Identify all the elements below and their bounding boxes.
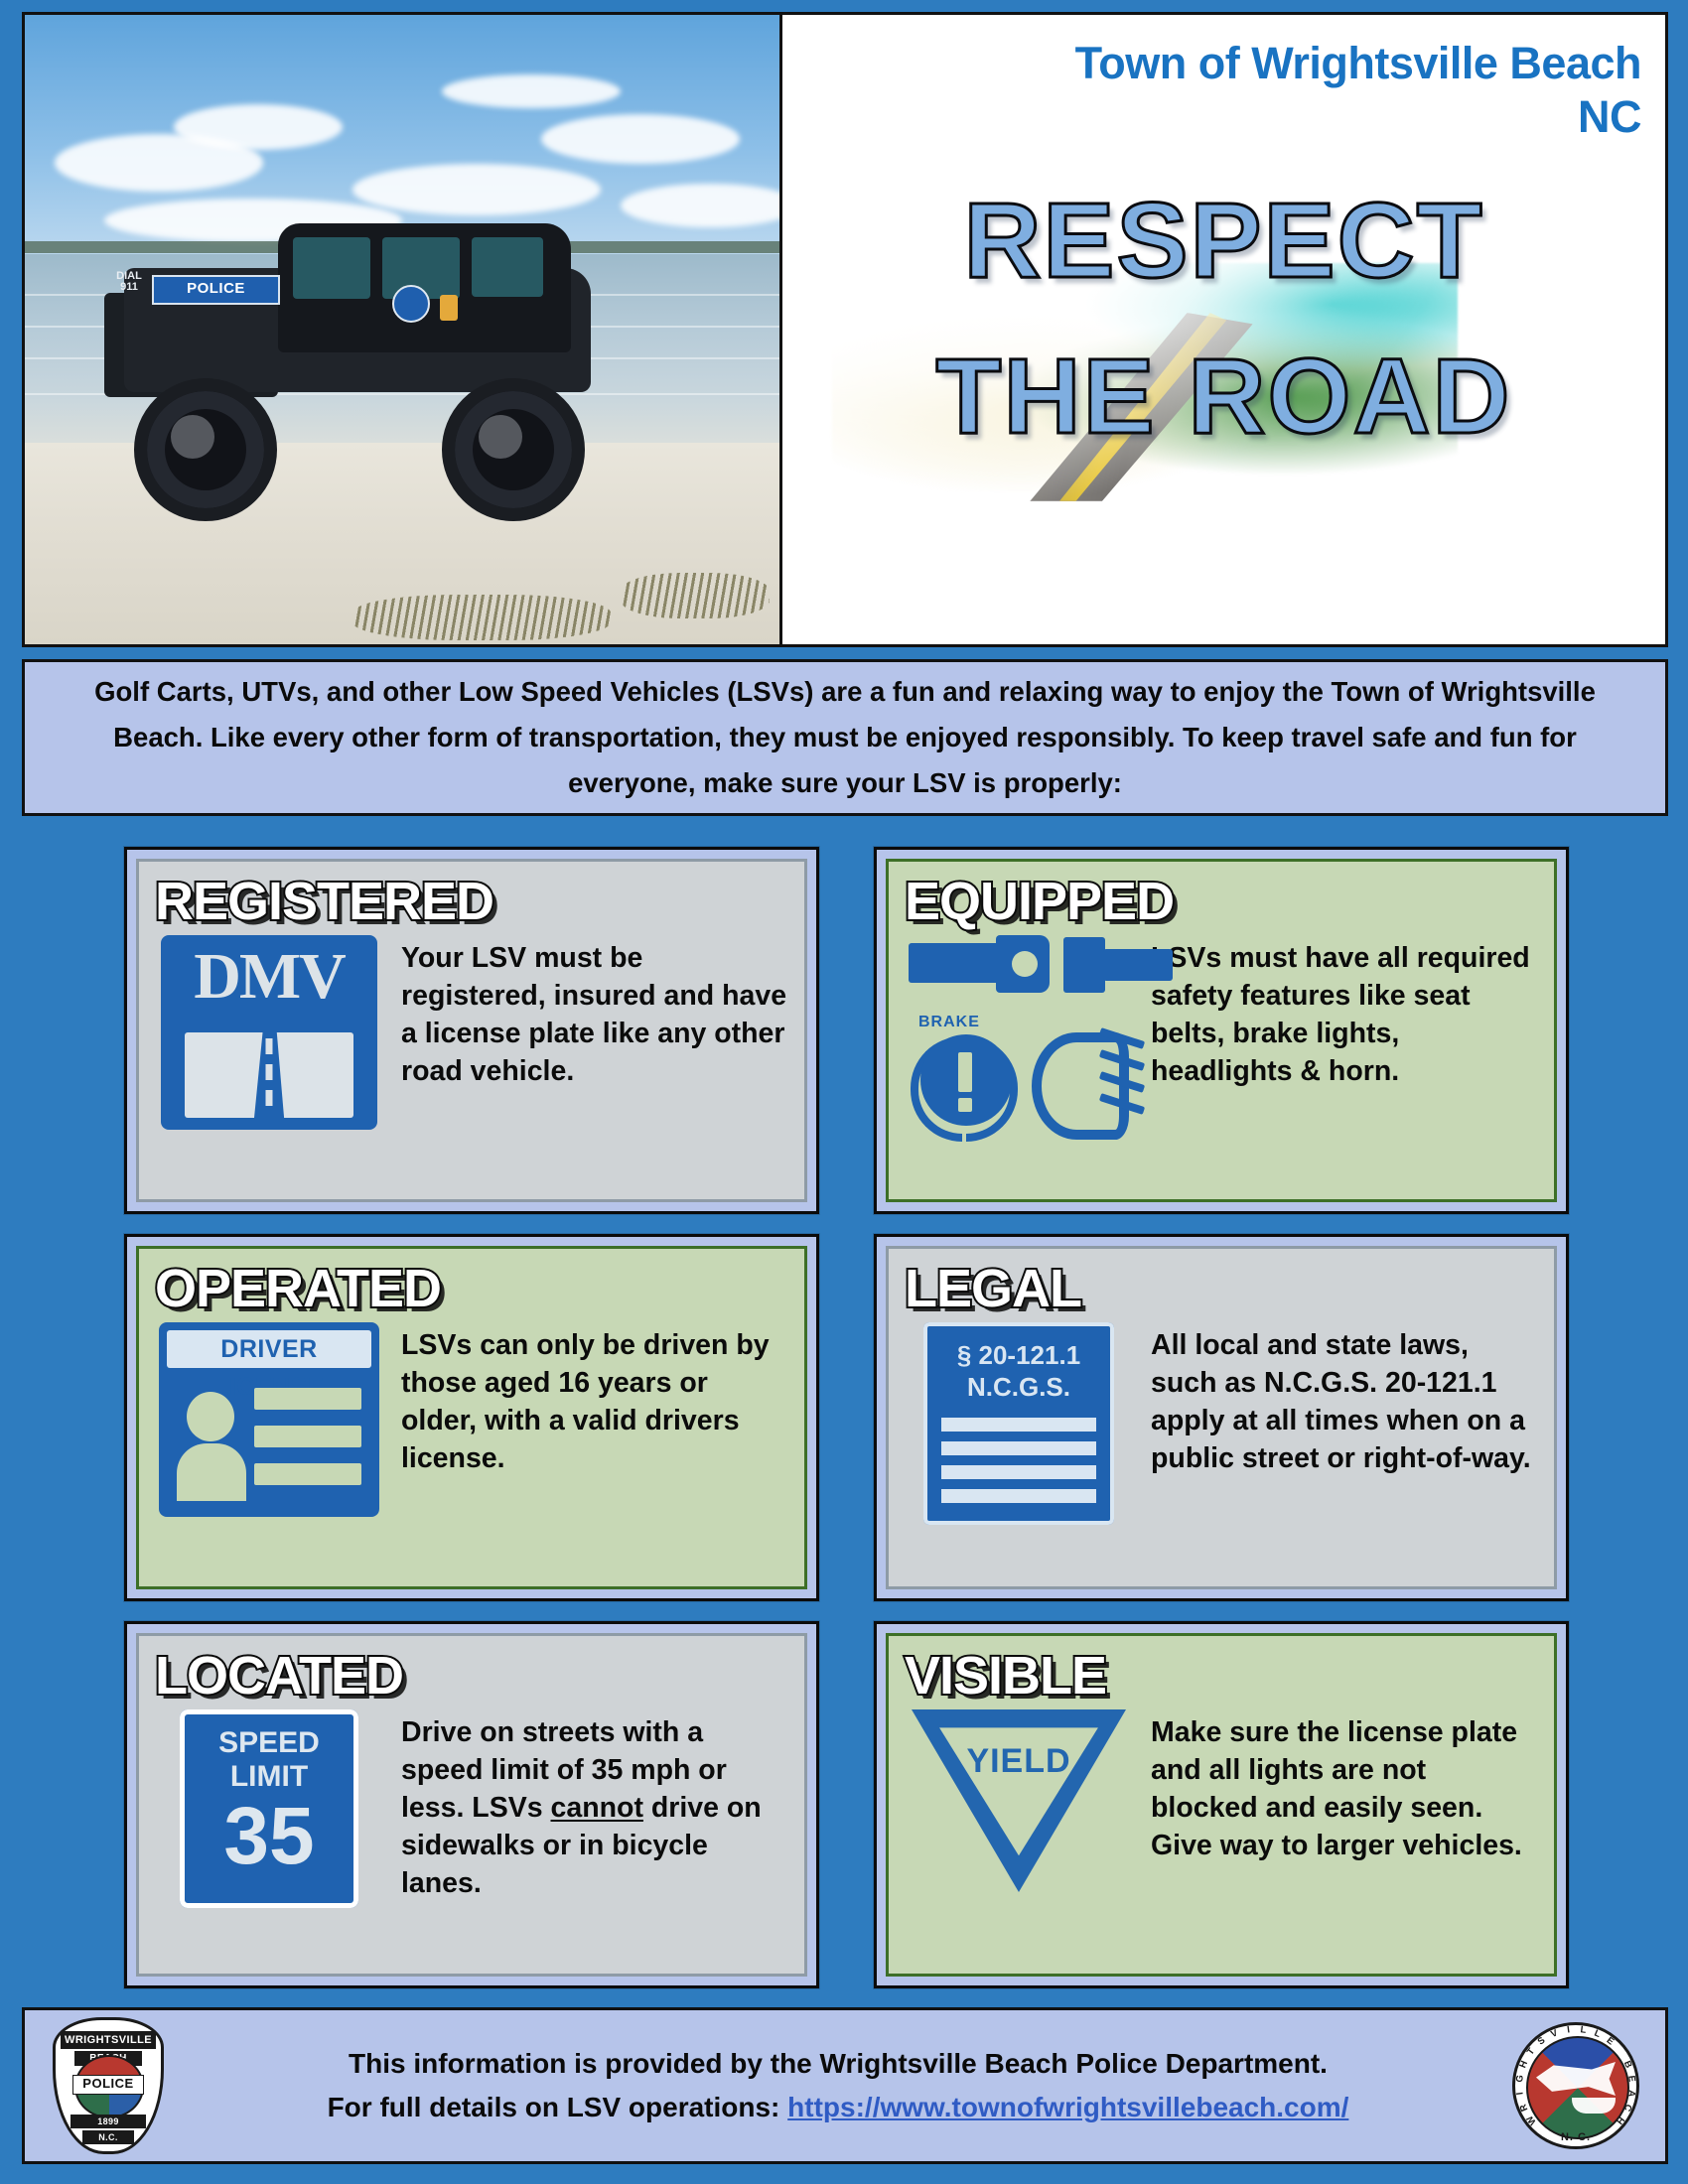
police-utv-on-beach-photo: DIAL911 POLICE	[25, 15, 782, 644]
card-visible: VISIBLE YIELD Make sure the license plat…	[874, 1621, 1569, 1988]
page-title: Town of Wrightsville Beach NC	[827, 37, 1641, 144]
limit-word-text: LIMIT	[180, 1761, 358, 1793]
intro-paragraph: Golf Carts, UTVs, and other Low Speed Ve…	[25, 669, 1665, 806]
card-title-registered: REGISTERED	[155, 874, 788, 929]
police-plate-label: POLICE	[152, 275, 280, 305]
badge-center-text: POLICE	[72, 2075, 144, 2095]
statute-document-icon: § 20-121.1 N.C.G.S.	[905, 1322, 1133, 1525]
footer-line-2-prefix: For full details on LSV operations:	[328, 2092, 780, 2122]
card-operated: OPERATED DRIVER LICENSE LSVs can only be…	[124, 1234, 819, 1601]
badge-state-text: N.C.	[53, 2130, 164, 2144]
headline-the-road: THE ROAD	[782, 335, 1665, 458]
requirements-grid: REGISTERED DMV Your L	[124, 847, 1569, 1988]
card-text-registered: Your LSV must be registered, insured and…	[401, 935, 788, 1090]
utv-vehicle-graphic	[94, 223, 650, 521]
header-title-block: Town of Wrightsville Beach NC RESPECT TH…	[782, 15, 1665, 644]
card-title-legal: LEGAL	[905, 1261, 1538, 1316]
poster-footer: WRIGHTSVILLE BEACH POLICE 1899 N.C. This…	[22, 2007, 1668, 2164]
statute-number-text: § 20-121.1	[923, 1340, 1114, 1370]
vehicle-door-seal-icon	[392, 285, 430, 323]
seatbelt-brake-headlight-icon: BRAKE	[905, 935, 1133, 1149]
located-emphasis: cannot	[551, 1792, 643, 1824]
wrightsville-beach-police-badge: WRIGHTSVILLE BEACH POLICE 1899 N.C.	[53, 2017, 164, 2154]
dial-911-label: DIAL911	[109, 271, 149, 293]
town-website-link[interactable]: https://www.townofwrightsvillebeach.com/	[787, 2092, 1348, 2122]
headline-respect: RESPECT	[782, 179, 1665, 302]
speed-word-text: SPEED	[180, 1727, 358, 1759]
card-text-equipped: LSVs must have all required safety featu…	[1151, 935, 1538, 1090]
seatbelt-buckle-hole	[1012, 951, 1038, 977]
footer-line-1: This information is provided by the Wrig…	[174, 2042, 1502, 2086]
card-equipped: EQUIPPED BRAKE	[874, 847, 1569, 1214]
town-title-text: Town of Wrightsville Beach	[1075, 38, 1641, 88]
amber-light-icon	[440, 295, 458, 321]
seal-ring-text: WRIGHTSVILLE BEACH	[1512, 2022, 1639, 2149]
dmv-logo-icon: DMV	[155, 935, 383, 1130]
yield-label: YIELD	[912, 1743, 1126, 1779]
card-registered: REGISTERED DMV Your L	[124, 847, 819, 1214]
seatbelt-latch-icon	[1063, 937, 1105, 993]
driver-license-icon: DRIVER LICENSE	[155, 1322, 383, 1517]
brake-warning-icon: BRAKE	[911, 1026, 1018, 1134]
card-title-operated: OPERATED	[155, 1261, 788, 1316]
footer-line-2: For full details on LSV operations: http…	[174, 2086, 1502, 2129]
speed-limit-value-text: 35	[180, 1791, 358, 1882]
card-located: LOCATED SPEED LIMIT 35 Drive on streets …	[124, 1621, 819, 1988]
headlight-icon	[1032, 1026, 1141, 1131]
yield-sign-icon: YIELD	[905, 1709, 1133, 1892]
statute-code-text: N.C.G.S.	[923, 1372, 1114, 1402]
seatbelt-strap-icon	[909, 943, 1002, 983]
dmv-logo-text: DMV	[161, 941, 377, 1013]
card-title-equipped: EQUIPPED	[905, 874, 1538, 929]
driver-license-label: DRIVER LICENSE	[167, 1330, 371, 1368]
badge-top-ribbon-text: WRIGHTSVILLE	[53, 2031, 164, 2049]
town-of-wrightsville-beach-seal: WRIGHTSVILLE BEACH N. C.	[1512, 2022, 1639, 2149]
state-abbr-text: NC	[1578, 91, 1641, 142]
poster-header: DIAL911 POLICE Town of Wrightsville Beac…	[22, 12, 1668, 647]
card-text-visible: Make sure the license plate and all ligh…	[1151, 1709, 1538, 1864]
poster-page: DIAL911 POLICE Town of Wrightsville Beac…	[0, 0, 1688, 2184]
card-title-visible: VISIBLE	[905, 1648, 1538, 1704]
intro-banner: Golf Carts, UTVs, and other Low Speed Ve…	[22, 659, 1668, 816]
badge-year-text: 1899	[53, 2115, 164, 2128]
seatbelt-strap2-icon	[1103, 949, 1173, 981]
card-text-operated: LSVs can only be driven by those aged 16…	[401, 1322, 788, 1477]
footer-text-block: This information is provided by the Wrig…	[164, 2042, 1512, 2129]
card-title-located: LOCATED	[155, 1648, 788, 1704]
speed-limit-35-sign-icon: SPEED LIMIT 35	[155, 1709, 383, 1908]
card-legal: LEGAL § 20-121.1 N.C.G.S. All local and …	[874, 1234, 1569, 1601]
seal-bottom-text: N. C.	[1512, 2131, 1639, 2143]
card-text-located: Drive on streets with a speed limit of 3…	[401, 1709, 788, 1902]
card-text-legal: All local and state laws, such as N.C.G.…	[1151, 1322, 1538, 1477]
brake-label: BRAKE	[918, 1015, 980, 1030]
